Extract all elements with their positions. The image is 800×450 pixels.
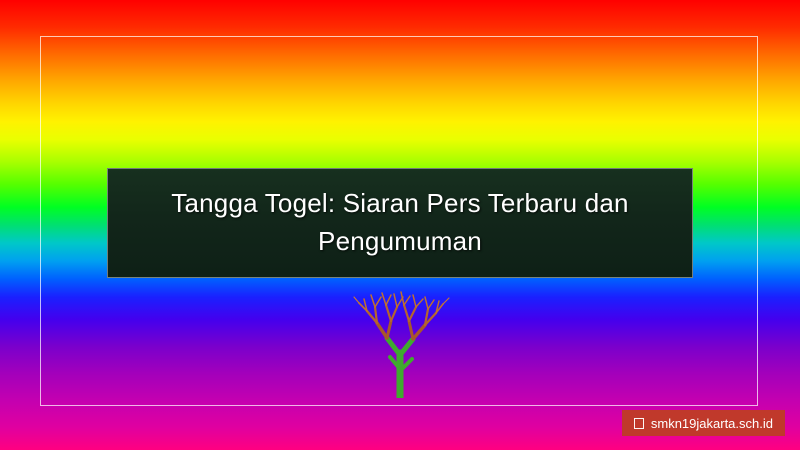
slide-canvas: Tangga Togel: Siaran Pers Terbaru dan Pe… [0, 0, 800, 450]
page-title: Tangga Togel: Siaran Pers Terbaru dan Pe… [124, 185, 676, 260]
globe-icon [634, 418, 644, 429]
footer-site-badge[interactable]: smkn19jakarta.sch.id [622, 410, 785, 436]
bare-tree-illustration [333, 283, 468, 398]
title-panel: Tangga Togel: Siaran Pers Terbaru dan Pe… [107, 168, 693, 278]
footer-site-label: smkn19jakarta.sch.id [651, 416, 773, 431]
